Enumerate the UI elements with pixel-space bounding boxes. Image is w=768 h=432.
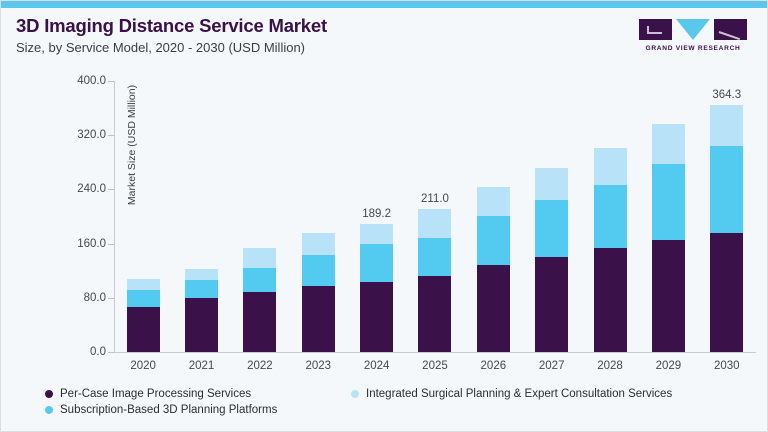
bar-segment-series-1[interactable] [185, 280, 218, 299]
bar-column[interactable]: 2022 [231, 81, 289, 352]
y-axis-tick-label: 80.0 [56, 292, 106, 304]
bar-segment-series-2[interactable] [360, 224, 393, 244]
stacked-bar[interactable] [535, 168, 568, 352]
legend-color-swatch-icon [45, 390, 53, 398]
bar-segment-series-0[interactable] [710, 233, 743, 352]
bar-segment-series-2[interactable] [535, 168, 568, 201]
stacked-bar[interactable] [302, 233, 335, 352]
bar-segment-series-2[interactable] [185, 269, 218, 279]
chart-header: 3D Imaging Distance Service Market Size,… [16, 15, 616, 57]
x-axis-tick-label: 2026 [481, 360, 507, 372]
bar-column[interactable]: 2026 [464, 81, 522, 352]
legend-item[interactable]: Integrated Surgical Planning & Expert Co… [351, 386, 672, 402]
y-axis-tick-label: 400.0 [56, 75, 106, 87]
stacked-bar[interactable] [710, 105, 743, 352]
bar-column[interactable]: 2023 [289, 81, 347, 352]
x-axis-tick-label: 2028 [597, 360, 623, 372]
bar-column[interactable]: 2021 [172, 81, 230, 352]
stacked-bar[interactable] [594, 148, 627, 352]
bar-segment-series-2[interactable] [243, 248, 276, 268]
bar-column[interactable]: 189.22024 [347, 81, 405, 352]
bar-segment-series-1[interactable] [127, 290, 160, 308]
bar-segment-series-0[interactable] [594, 248, 627, 352]
stacked-bar[interactable] [127, 279, 160, 352]
bar-segment-series-1[interactable] [418, 238, 451, 276]
bar-segment-series-1[interactable] [360, 244, 393, 283]
chart-subtitle: Size, by Service Model, 2020 - 2030 (USD… [16, 39, 616, 57]
stacked-bar[interactable] [185, 269, 218, 352]
y-axis-tick-label: 160.0 [56, 238, 106, 250]
bar-segment-series-2[interactable] [710, 105, 743, 146]
legend-row: Per-Case Image Processing ServicesIntegr… [45, 386, 757, 402]
bar-segment-series-0[interactable] [243, 292, 276, 352]
x-axis-tick-label: 2020 [130, 360, 156, 372]
bar-segment-series-1[interactable] [594, 185, 627, 249]
bar-value-label: 211.0 [421, 193, 449, 205]
bar-segment-series-0[interactable] [652, 240, 685, 352]
grand-view-research-logo: GRAND VIEW RESEARCH [635, 19, 751, 52]
bar-segment-series-2[interactable] [302, 233, 335, 255]
bar-group: 2020202120222023189.22024211.02025202620… [114, 81, 756, 352]
bar-segment-series-1[interactable] [477, 216, 510, 265]
bar-column[interactable]: 211.02025 [406, 81, 464, 352]
x-axis-line [114, 352, 756, 353]
logo-right-block-icon [714, 19, 747, 40]
bar-segment-series-2[interactable] [477, 187, 510, 215]
bar-segment-series-0[interactable] [360, 282, 393, 352]
bar-column[interactable]: 2020 [114, 81, 172, 352]
bar-column[interactable]: 364.32030 [698, 81, 756, 352]
x-axis-tick-label: 2024 [364, 360, 390, 372]
legend-color-swatch-icon [351, 390, 359, 398]
stacked-bar[interactable] [360, 224, 393, 352]
bar-segment-series-1[interactable] [652, 164, 685, 240]
x-axis-tick-label: 2027 [539, 360, 565, 372]
chart-card: 3D Imaging Distance Service Market Size,… [0, 0, 768, 432]
bar-segment-series-0[interactable] [127, 307, 160, 352]
top-accent-strip [1, 1, 768, 8]
bar-segment-series-2[interactable] [127, 279, 160, 290]
bar-segment-series-2[interactable] [418, 209, 451, 238]
legend-color-swatch-icon [45, 406, 53, 414]
legend-item[interactable]: Per-Case Image Processing Services [45, 386, 351, 402]
bar-segment-series-0[interactable] [477, 265, 510, 352]
bar-column[interactable]: 2028 [581, 81, 639, 352]
stacked-bar[interactable] [477, 187, 510, 352]
bar-segment-series-2[interactable] [594, 148, 627, 185]
logo-triangle-icon [676, 19, 710, 40]
bar-column[interactable]: 2027 [523, 81, 581, 352]
legend-item[interactable]: Subscription-Based 3D Planning Platforms [45, 402, 277, 418]
bar-segment-series-1[interactable] [302, 255, 335, 285]
chart-legend: Per-Case Image Processing ServicesIntegr… [45, 386, 757, 418]
bar-value-label: 189.2 [362, 208, 391, 220]
bar-segment-series-1[interactable] [243, 268, 276, 292]
stacked-bar[interactable] [652, 124, 685, 352]
plot-area: Market Size (USD Million) 0.080.0160.024… [114, 81, 756, 353]
bar-segment-series-0[interactable] [185, 298, 218, 352]
bar-column[interactable]: 2029 [639, 81, 697, 352]
bar-segment-series-1[interactable] [710, 146, 743, 233]
y-axis-tick-label: 240.0 [56, 183, 106, 195]
logo-text: GRAND VIEW RESEARCH [635, 45, 751, 52]
bar-segment-series-0[interactable] [535, 257, 568, 352]
legend-label: Integrated Surgical Planning & Expert Co… [366, 386, 672, 402]
bar-segment-series-1[interactable] [535, 200, 568, 257]
legend-row: Subscription-Based 3D Planning Platforms [45, 402, 757, 418]
logo-left-block-icon [639, 19, 672, 40]
x-axis-tick-label: 2021 [189, 360, 215, 372]
y-axis-tick-label: 320.0 [56, 129, 106, 141]
logo-marks [635, 19, 751, 41]
legend-label: Subscription-Based 3D Planning Platforms [60, 402, 277, 418]
stacked-bar[interactable] [418, 209, 451, 352]
bar-segment-series-2[interactable] [652, 124, 685, 165]
x-axis-tick-label: 2023 [305, 360, 331, 372]
y-axis-tick-label: 0.0 [56, 346, 106, 358]
x-axis-tick-label: 2030 [714, 360, 740, 372]
bar-value-label: 364.3 [712, 89, 741, 101]
bar-segment-series-0[interactable] [418, 276, 451, 352]
legend-label: Per-Case Image Processing Services [60, 386, 251, 402]
stacked-bar[interactable] [243, 248, 276, 352]
y-axis-tick-mark [108, 352, 114, 353]
x-axis-tick-label: 2025 [422, 360, 448, 372]
x-axis-tick-label: 2022 [247, 360, 273, 372]
x-axis-tick-label: 2029 [656, 360, 682, 372]
chart-title: 3D Imaging Distance Service Market [16, 15, 616, 37]
bar-segment-series-0[interactable] [302, 286, 335, 352]
